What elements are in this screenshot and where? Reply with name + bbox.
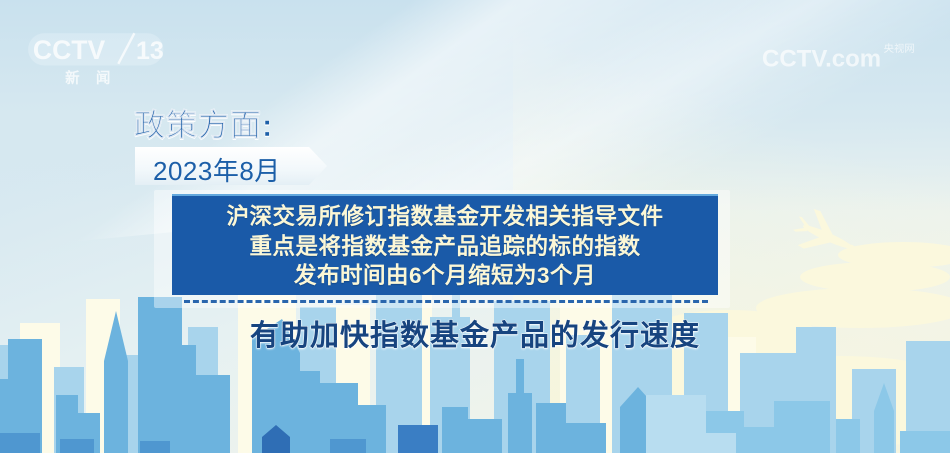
cctv-logo-text: CCTV <box>33 35 106 65</box>
airplane-icon <box>790 206 866 268</box>
channel-subtitle-text: 新 闻 <box>65 69 116 87</box>
watermark-cn-text: 央视网 <box>884 42 915 55</box>
highlight-box: 沪深交易所修订指数基金开发相关指导文件 重点是将指数基金产品追踪的标的指数 发布… <box>172 194 718 295</box>
highlight-line: 沪深交易所修订指数基金开发相关指导文件 <box>226 202 663 232</box>
page-title: 政策方面: <box>134 100 273 145</box>
date-badge-label: 2023年8月 <box>153 151 281 188</box>
cctv13-channel-logo: CCTV 13 新 闻 <box>26 30 188 88</box>
dashed-divider <box>184 300 708 303</box>
conclusion-text: 有助加快指数基金产品的发行速度 <box>0 312 950 354</box>
watermark-text: CCTV.com <box>762 45 881 72</box>
city-skyline-front <box>0 283 950 453</box>
cctv-com-watermark: CCTV.com 央视网 <box>762 36 938 76</box>
highlight-line: 发布时间由6个月缩短为3个月 <box>294 261 596 291</box>
channel-number-text: 13 <box>136 37 164 65</box>
broadcast-screen: CCTV 13 新 闻 CCTV.com 央视网 政策方面: 2023年8月 沪… <box>0 0 950 453</box>
highlight-line: 重点是将指数基金产品追踪的标的指数 <box>249 232 640 262</box>
